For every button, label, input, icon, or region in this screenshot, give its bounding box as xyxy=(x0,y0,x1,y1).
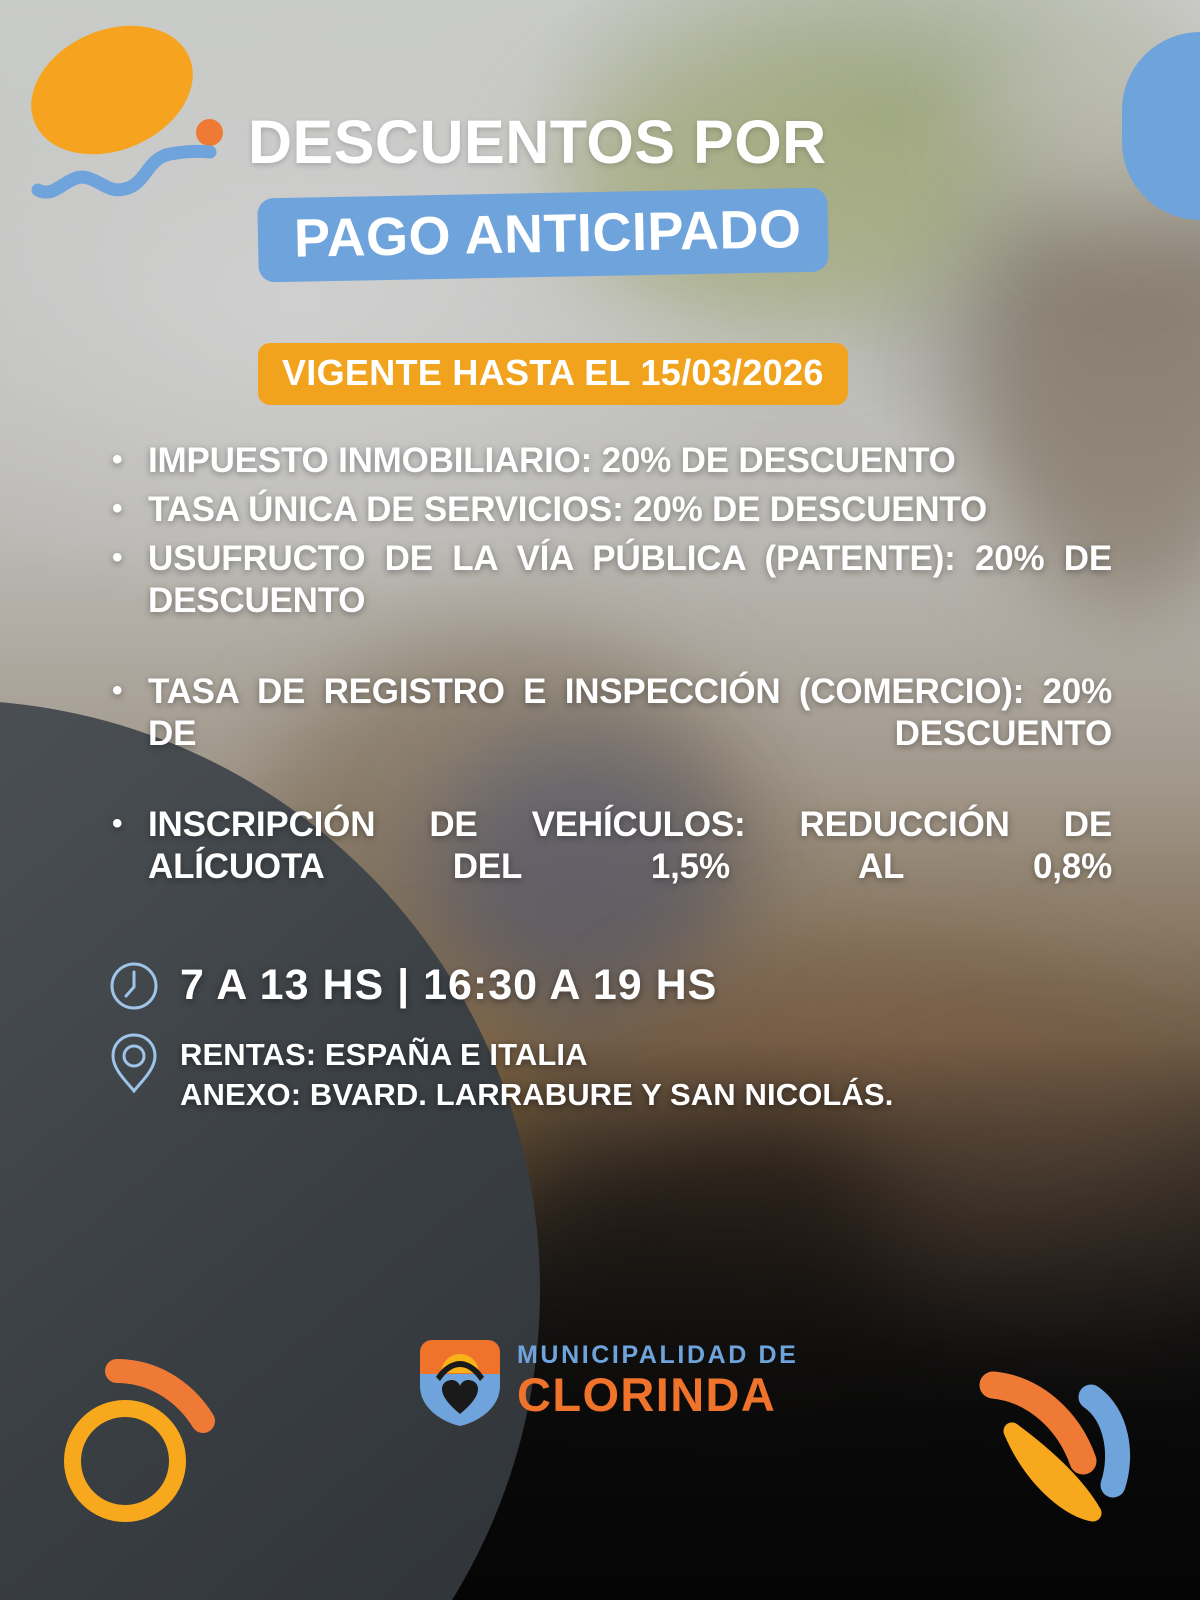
bullet-icon: • xyxy=(112,804,148,845)
subtitle-text: PAGO ANTICIPADO xyxy=(257,188,828,283)
list-item: • USUFRUCTO DE LA VÍA PÚBLICA (PATENTE):… xyxy=(112,538,1112,664)
poster-root: DESCUENTOS POR PAGO ANTICIPADO VIGENTE H… xyxy=(0,0,1200,1600)
municipality-logo: MUNICIPALIDAD DE CLORINDA xyxy=(420,1334,798,1426)
location-pin-icon xyxy=(108,1029,180,1100)
list-item: • TASA ÚNICA DE SERVICIOS: 20% DE DESCUE… xyxy=(112,489,1112,531)
bullet-icon: • xyxy=(112,671,148,712)
clock-icon xyxy=(108,958,180,1017)
clorinda-shield-icon xyxy=(420,1334,500,1426)
bullet-icon: • xyxy=(112,538,148,579)
bullet-icon: • xyxy=(112,489,148,530)
discounts-list: • IMPUESTO INMOBILIARIO: 20% DE DESCUENT… xyxy=(112,440,1112,937)
list-item-label: IMPUESTO INMOBILIARIO: 20% DE DESCUENTO xyxy=(148,440,1112,482)
bullet-icon: • xyxy=(112,440,148,481)
address-line-1: RENTAS: ESPAÑA E ITALIA xyxy=(180,1037,588,1072)
page-title: DESCUENTOS POR xyxy=(248,112,948,173)
list-item: • IMPUESTO INMOBILIARIO: 20% DE DESCUENT… xyxy=(112,440,1112,482)
address-row: RENTAS: ESPAÑA E ITALIA ANEXO: BVARD. LA… xyxy=(108,1029,1068,1114)
list-item-label: TASA DE REGISTRO E INSPECCIÓN (COMERCIO)… xyxy=(148,671,1112,797)
validity-badge: VIGENTE HASTA EL 15/03/2026 xyxy=(258,343,848,405)
logo-line-1: MUNICIPALIDAD DE xyxy=(517,1343,798,1368)
list-item-label: TASA ÚNICA DE SERVICIOS: 20% DE DESCUENT… xyxy=(148,489,1112,531)
contact-info: 7 A 13 HS | 16:30 A 19 HS RENTAS: ESPAÑA… xyxy=(108,958,1068,1126)
hours-label: 7 A 13 HS | 16:30 A 19 HS xyxy=(180,958,717,1009)
list-item: • INSCRIPCIÓN DE VEHÍCULOS: REDUCCIÓN DE… xyxy=(112,804,1112,930)
address-block: RENTAS: ESPAÑA E ITALIA ANEXO: BVARD. LA… xyxy=(180,1029,893,1114)
list-item: • TASA DE REGISTRO E INSPECCIÓN (COMERCI… xyxy=(112,671,1112,797)
list-item-label: INSCRIPCIÓN DE VEHÍCULOS: REDUCCIÓN DE A… xyxy=(148,804,1112,930)
logo-wordmark: MUNICIPALIDAD DE CLORINDA xyxy=(517,1343,798,1418)
address-line-2: ANEXO: BVARD. LARRABURE Y SAN NICOLÁS. xyxy=(180,1077,893,1112)
poster-content: DESCUENTOS POR PAGO ANTICIPADO VIGENTE H… xyxy=(0,0,1200,1600)
subtitle-banner: PAGO ANTICIPADO xyxy=(257,188,828,283)
list-item-label: USUFRUCTO DE LA VÍA PÚBLICA (PATENTE): 2… xyxy=(148,538,1112,664)
logo-line-2: CLORINDA xyxy=(517,1371,798,1418)
hours-row: 7 A 13 HS | 16:30 A 19 HS xyxy=(108,958,1068,1017)
